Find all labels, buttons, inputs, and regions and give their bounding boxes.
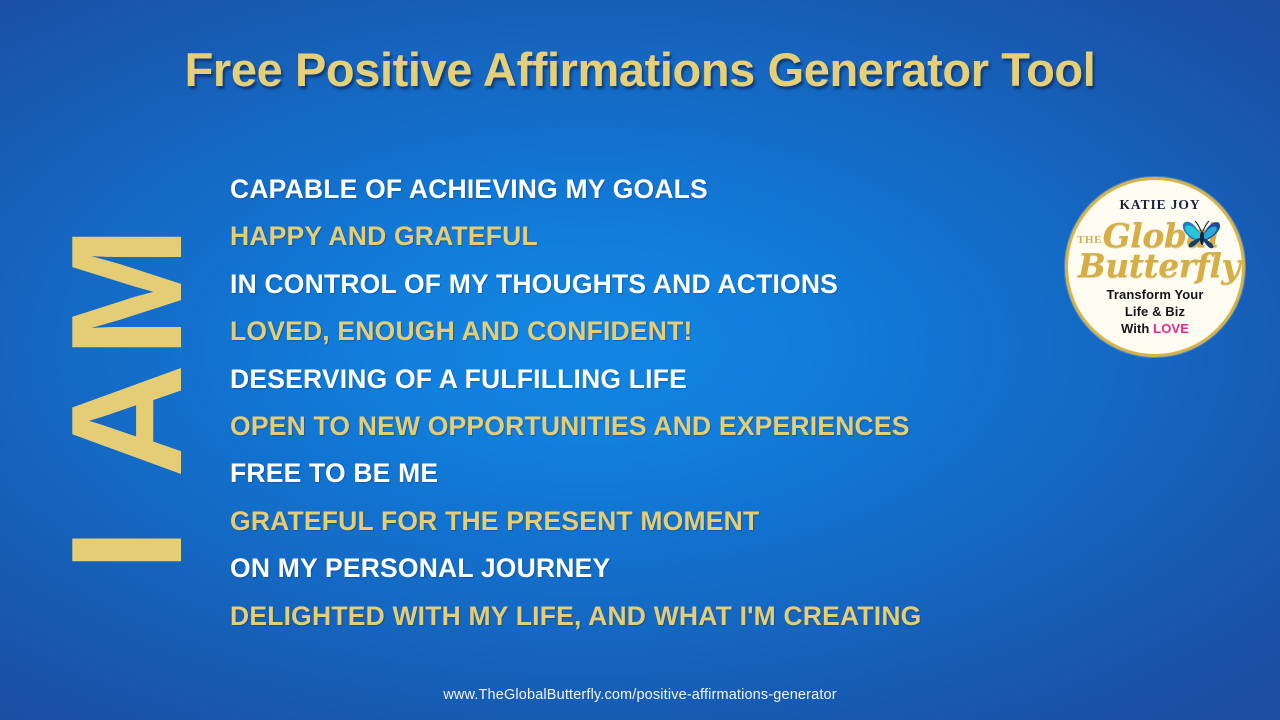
affirmation-item: DELIGHTED WITH MY LIFE, AND WHAT I'M CRE… [230, 593, 1160, 640]
affirmation-item: HAPPY AND GRATEFUL [230, 213, 1160, 260]
i-am-vertical-mark: I AM [56, 176, 198, 616]
i-am-label: I AM [56, 176, 198, 616]
affirmation-item: FREE TO BE ME [230, 450, 1160, 497]
logo-inner: KATIE JOY THE Global Butterfly Transform… [1068, 180, 1242, 354]
logo-tagline-love: LOVE [1153, 321, 1189, 336]
page-title: Free Positive Affirmations Generator Too… [0, 42, 1280, 97]
affirmation-item: IN CONTROL OF MY THOUGHTS AND ACTIONS [230, 261, 1160, 308]
logo-tagline-line-2: Life & Biz [1068, 304, 1242, 319]
affirmations-poster: Free Positive Affirmations Generator Too… [0, 0, 1280, 720]
logo-tagline-with: With [1121, 321, 1153, 336]
affirmation-item: LOVED, ENOUGH AND CONFIDENT! [230, 308, 1160, 355]
footer-url[interactable]: www.TheGlobalButterfly.com/positive-affi… [0, 687, 1280, 703]
brand-logo-badge[interactable]: KATIE JOY THE Global Butterfly Transform… [1065, 177, 1245, 357]
logo-brand-name: KATIE JOY [1068, 197, 1242, 213]
logo-tagline-line-3: With LOVE [1068, 321, 1242, 336]
affirmation-item: CAPABLE OF ACHIEVING MY GOALS [230, 166, 1160, 213]
affirmation-item: ON MY PERSONAL JOURNEY [230, 545, 1160, 592]
affirmation-list: CAPABLE OF ACHIEVING MY GOALSHAPPY AND G… [230, 166, 1160, 640]
affirmation-item: OPEN TO NEW OPPORTUNITIES AND EXPERIENCE… [230, 403, 1160, 450]
affirmation-item: DESERVING OF A FULFILLING LIFE [230, 356, 1160, 403]
affirmation-item: GRATEFUL FOR THE PRESENT MOMENT [230, 498, 1160, 545]
logo-tagline-line-1: Transform Your [1068, 287, 1242, 302]
butterfly-icon [1180, 216, 1224, 256]
